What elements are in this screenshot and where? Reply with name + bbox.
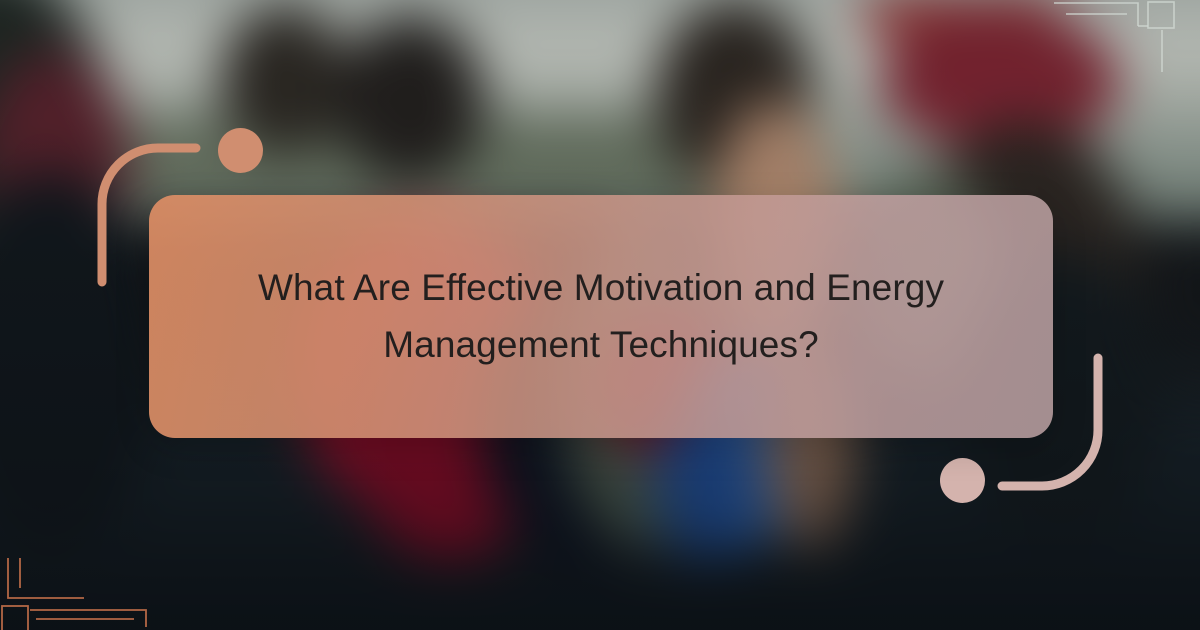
page-title: What Are Effective Motivation and Energy… <box>241 260 961 372</box>
dot-bottom-right-icon <box>940 458 985 503</box>
og-image-canvas: What Are Effective Motivation and Energy… <box>0 0 1200 630</box>
title-card: What Are Effective Motivation and Energy… <box>149 195 1053 438</box>
dot-top-left-icon <box>218 128 263 173</box>
